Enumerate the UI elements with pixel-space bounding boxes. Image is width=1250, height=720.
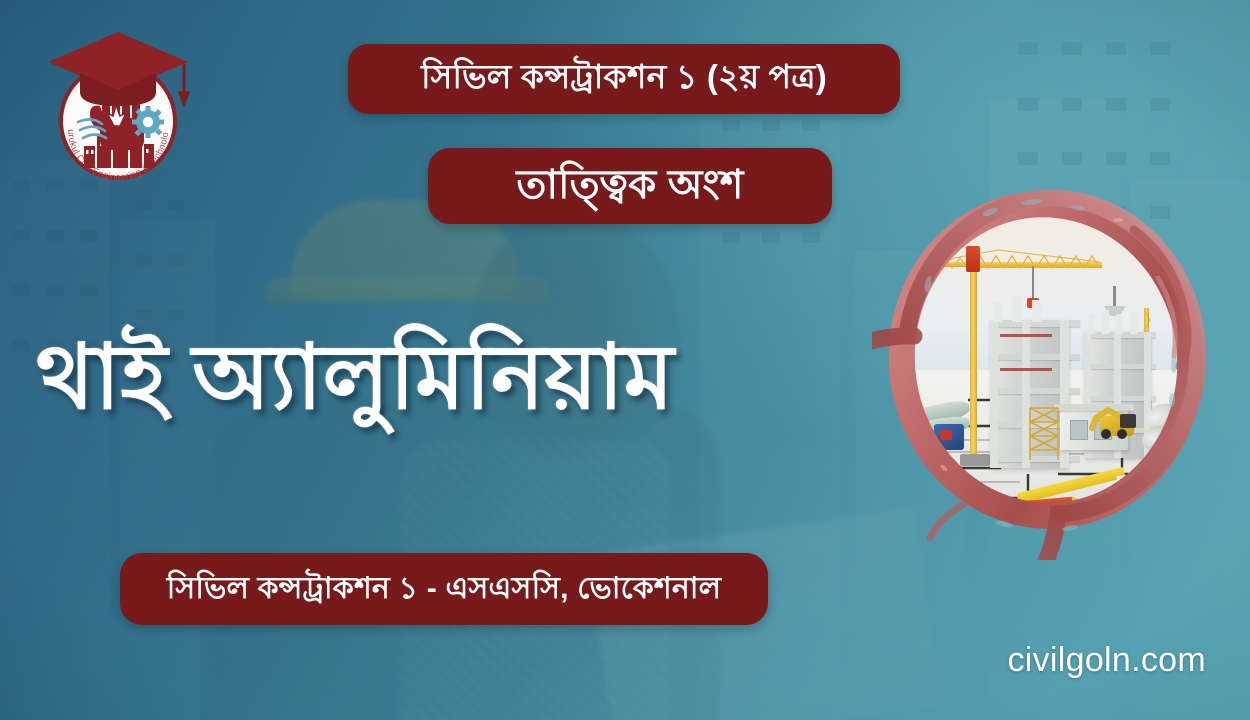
construction-photo-badge xyxy=(872,168,1220,560)
site-watermark: civilgoln.com xyxy=(1007,641,1206,680)
brush-ring-frame xyxy=(872,168,1220,560)
logo-gear-icon xyxy=(132,106,164,138)
banner-section-label: তাত্ত্বিক অংশ xyxy=(428,148,832,224)
page-title: থাই অ্যালুমিনিয়াম xyxy=(36,318,866,438)
thumbnail-canvas: Gurukul Civil Engineering & Technology xyxy=(0,0,1250,720)
banner-course-title: সিভিল কন্সট্রাকশন ১ (২য় পত্র) xyxy=(348,44,900,114)
banner-course-footer: সিভিল কন্সট্রাকশন ১ - এসএসসি, ভোকেশনাল xyxy=(120,553,768,625)
logo-svg: Gurukul Civil Engineering & Technology xyxy=(38,18,198,188)
brand-logo[interactable]: Gurukul Civil Engineering & Technology xyxy=(38,18,198,188)
